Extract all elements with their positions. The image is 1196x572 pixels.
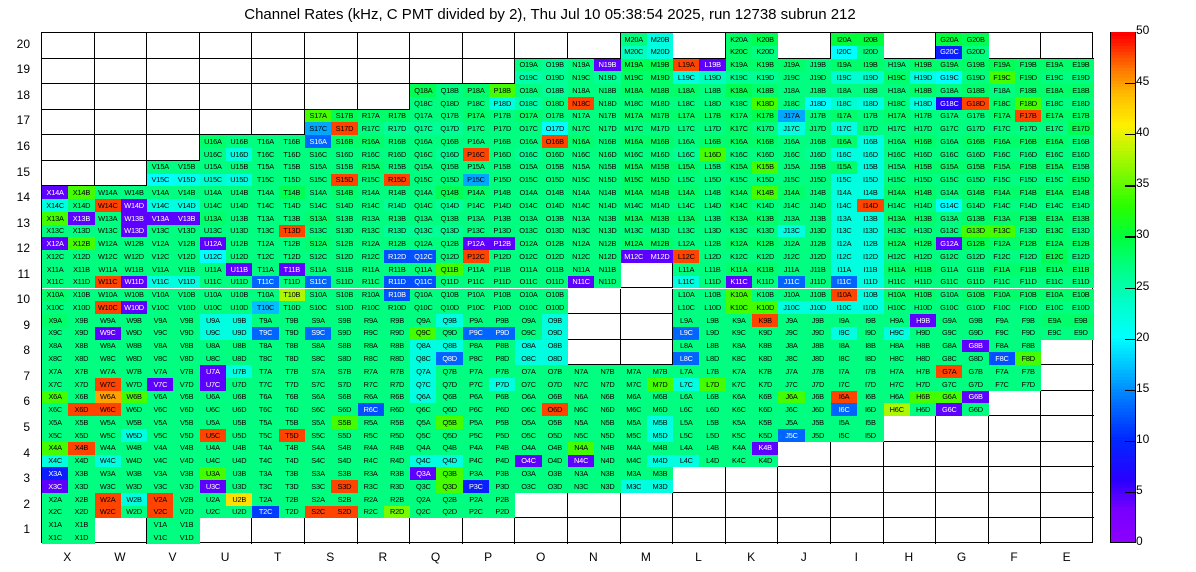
channel-F8B: F8B [1015,340,1041,353]
channel-L19D: L19D [699,71,725,84]
grid-cell-S14: S14AS14BS14CS14D [305,186,358,212]
channel-L17B: L17B [699,110,725,123]
grid-cell-H10: H10AH10BH10CH10D [884,289,937,315]
channel-T15A: T15A [252,161,278,174]
channel-K6B: K6B [752,391,778,404]
grid-cell-H4 [884,442,937,468]
channel-W10B: W10B [121,289,147,302]
grid-cell-G13: G13AG13BG13CG13D [936,212,989,238]
grid-cell-W17 [95,110,148,136]
grid-cell-J20 [778,33,831,59]
grid-cell-F8: F8AF8BF8CF8D [989,340,1042,366]
channel-T11C: T11C [252,276,278,289]
channel-N13B: N13B [594,212,620,225]
channel-L15B: L15B [699,161,725,174]
channel-H6A: H6A [884,391,910,404]
channel-R7B: R7B [384,365,410,378]
channel-W4D: W4D [121,455,147,468]
channel-R5A: R5A [358,416,384,429]
grid-cell-U20 [200,33,253,59]
channel-J10C: J10C [778,301,804,314]
channel-P3D: P3D [489,480,515,493]
channel-X11B: X11B [68,263,94,276]
channel-X8B: X8B [68,340,94,353]
grid-cell-S5: S5AS5BS5CS5D [305,416,358,442]
channel-M14A: M14A [621,186,647,199]
channel-M17B: M17B [647,110,673,123]
channel-R2D: R2D [384,506,410,519]
channel-M16D: M16D [647,148,673,161]
channel-O13B: O13B [542,212,568,225]
channel-Q14C: Q14C [410,199,436,212]
channel-Q16C: Q16C [410,148,436,161]
grid-cell-G11: G11AG11BG11CG11D [936,263,989,289]
channel-U16C: U16C [200,148,226,161]
channel-T7D: T7D [279,378,305,391]
channel-S12A: S12A [305,237,331,250]
channel-J14D: J14D [805,199,831,212]
channel-S16A: S16A [305,135,331,148]
colorbar-tick-line [1125,236,1136,237]
grid-cell-M15: M15AM15BM15CM15D [621,161,674,187]
channel-T15B: T15B [279,161,305,174]
channel-J6C: J6C [778,403,804,416]
channel-P18B: P18B [489,84,515,97]
channel-L16B: L16B [699,135,725,148]
y-tick-13: 13 [0,216,30,230]
channel-X4A: X4A [42,442,68,455]
grid-cell-T19 [252,59,305,85]
channel-E10D: E10D [1068,301,1094,314]
channel-M20A: M20A [621,33,647,46]
channel-R10B: R10B [384,289,410,302]
grid-cell-K19: K19AK19BK19CK19D [726,59,779,85]
grid-cell-H18: H18AH18BH18CH18D [884,84,937,110]
channel-S7A: S7A [305,365,331,378]
channel-I17D: I17D [857,122,883,135]
channel-K12D: K12D [752,250,778,263]
channel-K11D: K11D [752,276,778,289]
channel-E11D: E11D [1068,276,1094,289]
channel-N6B: N6B [594,391,620,404]
channel-E18D: E18D [1068,97,1094,110]
channel-O4B: O4B [542,442,568,455]
channel-U2D: U2D [226,506,252,519]
channel-X2C: X2C [42,506,68,519]
channel-H9A: H9A [884,314,910,327]
channel-M6A: M6A [621,391,647,404]
grid-cell-I3 [831,467,884,493]
channel-W10D: W10D [121,301,147,314]
channel-L13D: L13D [699,225,725,238]
grid-cell-Q14: Q14AQ14BQ14CQ14D [410,186,463,212]
channel-G10A: G10A [936,289,962,302]
grid-cell-O10: O10AO10BO10CO10D [515,289,568,315]
channel-K6C: K6C [726,403,752,416]
channel-J5A: J5A [778,416,804,429]
grid-cell-O6: O6AO6BO6CO6D [515,391,568,417]
grid-cell-K17: K17AK17BK17CK17D [726,110,779,136]
grid-cell-S17: S17AS17BS17CS17D [305,110,358,136]
grid-cell-T17 [252,110,305,136]
channel-X12D: X12D [68,250,94,263]
channel-G7C: G7C [936,378,962,391]
channel-F13B: F13B [1015,212,1041,225]
grid-cell-M14: M14AM14BM14CM14D [621,186,674,212]
grid-cell-R5: R5AR5BR5CR5D [358,416,411,442]
grid-cell-F7: F7AF7BF7CF7D [989,365,1042,391]
channel-K9C: K9C [726,327,752,340]
channel-H9D: H9D [910,327,936,340]
channel-U16D: U16D [226,148,252,161]
channel-R8A: R8A [358,340,384,353]
grid-cell-O2 [515,493,568,519]
channel-K10B: K10B [752,289,778,302]
channel-P3A: P3A [463,467,489,480]
grid-cell-O16: O16AO16BO16CO16D [515,135,568,161]
channel-G20C: G20C [936,46,962,59]
channel-X7B: X7B [68,365,94,378]
channel-F17A: F17A [989,110,1015,123]
channel-N4D: N4D [594,455,620,468]
channel-L16D: L16D [699,148,725,161]
heatmap-grid: M20AM20BM20CM20DK20AK20BK20CK20DI20AI20B… [42,33,1092,542]
channel-R13A: R13A [358,212,384,225]
channel-M4C: M4C [621,455,647,468]
grid-cell-H19: H19AH19BH19CH19D [884,59,937,85]
channel-P4D: P4D [489,455,515,468]
x-tick-M: M [620,550,673,564]
channel-S8B: S8B [331,340,357,353]
channel-Q10A: Q10A [410,289,436,302]
channel-O16A: O16A [515,135,541,148]
channel-I8B: I8B [857,340,883,353]
grid-cell-O7: O7AO7BO7CO7D [515,365,568,391]
channel-P14C: P14C [463,199,489,212]
grid-cell-X11: X11AX11BX11CX11D [42,263,95,289]
channel-G7D: G7D [962,378,988,391]
grid-cell-P7: P7AP7BP7CP7D [463,365,516,391]
channel-R11D: R11D [384,276,410,289]
grid-cell-J13: J13AJ13BJ13CJ13D [778,212,831,238]
channel-J5C: J5C [778,429,804,442]
channel-X3C: X3C [42,480,68,493]
channel-P3B: P3B [489,467,515,480]
channel-V1D: V1D [173,531,199,544]
x-tick-R: R [357,550,410,564]
grid-cell-S4: S4AS4BS4CS4D [305,442,358,468]
grid-cell-G3 [936,467,989,493]
channel-K15D: K15D [752,174,778,187]
channel-H6B: H6B [910,391,936,404]
channel-P15B: P15B [489,161,515,174]
y-tick-15: 15 [0,165,30,179]
grid-cell-L15: L15AL15BL15CL15D [673,161,726,187]
channel-Q11B: Q11B [436,263,462,276]
channel-P2D: P2D [489,506,515,519]
channel-S7C: S7C [305,378,331,391]
channel-O9D: O9D [542,327,568,340]
channel-P5B: P5B [489,416,515,429]
channel-O12D: O12D [542,250,568,263]
channel-K5C: K5C [726,429,752,442]
grid-cell-S18 [305,84,358,110]
channel-I5C: I5C [831,429,857,442]
grid-cell-Q8: Q8AQ8BQ8CQ8D [410,340,463,366]
y-tick-7: 7 [0,369,30,383]
channel-E9B: E9B [1068,314,1094,327]
channel-F11C: F11C [989,276,1015,289]
grid-cell-N6: N6AN6BN6CN6D [568,391,621,417]
channel-R8C: R8C [358,352,384,365]
channel-S17C: S17C [305,122,331,135]
channel-M16A: M16A [621,135,647,148]
channel-W6D: W6D [121,403,147,416]
channel-P4C: P4C [463,455,489,468]
channel-T4B: T4B [279,442,305,455]
channel-Q5C: Q5C [410,429,436,442]
grid-cell-K20: K20AK20BK20CK20D [726,33,779,59]
colorbar-tick-line [1125,83,1136,84]
channel-Q17B: Q17B [436,110,462,123]
channel-P13B: P13B [489,212,515,225]
channel-K16D: K16D [752,148,778,161]
channel-Q6D: Q6D [436,403,462,416]
grid-cell-O15: O15AO15BO15CO15D [515,161,568,187]
channel-X6C: X6C [42,403,68,416]
channel-L4A: L4A [673,442,699,455]
channel-W8C: W8C [95,352,121,365]
channel-T12C: T12C [252,250,278,263]
channel-S4C: S4C [305,455,331,468]
channel-K19A: K19A [726,59,752,72]
channel-W10C: W10C [95,301,121,314]
grid-cell-O4: O4AO4BO4CO4D [515,442,568,468]
channel-T8D: T8D [279,352,305,365]
channel-N14C: N14C [568,199,594,212]
grid-cell-Q6: Q6AQ6BQ6CQ6D [410,391,463,417]
grid-cell-G2 [936,493,989,519]
channel-U13A: U13A [200,212,226,225]
channel-P6A: P6A [463,391,489,404]
channel-E17B: E17B [1068,110,1094,123]
channel-P14D: P14D [489,199,515,212]
channel-T10D: T10D [279,301,305,314]
channel-O19B: O19B [542,59,568,72]
channel-E13B: E13B [1068,212,1094,225]
channel-U4A: U4A [200,442,226,455]
channel-L7B: L7B [699,365,725,378]
channel-E12A: E12A [1041,237,1067,250]
channel-K10A: K10A [726,289,752,302]
grid-cell-I11: I11AI11BI11CI11D [831,263,884,289]
grid-cell-P12: P12AP12BP12CP12D [463,237,516,263]
channel-L12A: L12A [673,237,699,250]
channel-J17D: J17D [805,122,831,135]
channel-Q7C: Q7C [410,378,436,391]
channel-R14D: R14D [384,199,410,212]
channel-W12D: W12D [121,250,147,263]
channel-M12B: M12B [647,237,673,250]
channel-O6C: O6C [515,403,541,416]
channel-M17C: M17C [621,122,647,135]
channel-T5B: T5B [279,416,305,429]
channel-W9B: W9B [121,314,147,327]
grid-cell-F14: F14AF14BF14CF14D [989,186,1042,212]
grid-cell-E6 [1041,391,1094,417]
grid-cell-G7: G7AG7BG7CG7D [936,365,989,391]
grid-cell-W15 [95,161,148,187]
channel-K20B: K20B [752,33,778,46]
grid-cell-R11: R11AR11BR11CR11D [358,263,411,289]
channel-P8A: P8A [463,340,489,353]
grid-cell-K9: K9AK9BK9CK9D [726,314,779,340]
channel-J10B: J10B [805,289,831,302]
grid-cell-O1 [515,518,568,544]
grid-cell-E15: E15AE15BE15CE15D [1041,161,1094,187]
channel-V9B: V9B [173,314,199,327]
channel-F16D: F16D [1015,148,1041,161]
channel-X13B: X13B [68,212,94,225]
channel-M20C: M20C [621,46,647,59]
channel-H9C: H9C [884,327,910,340]
channel-L16C: L16C [673,148,699,161]
channel-I16A: I16A [831,135,857,148]
grid-cell-R4: R4AR4BR4CR4D [358,442,411,468]
grid-cell-E13: E13AE13BE13CE13D [1041,212,1094,238]
x-tick-I: I [830,550,883,564]
channel-V3B: V3B [173,467,199,480]
grid-cell-V13: V13AV13BV13CV13D [147,212,200,238]
channel-R2B: R2B [384,493,410,506]
channel-L17C: L17C [673,122,699,135]
channel-F10A: F10A [989,289,1015,302]
channel-O12C: O12C [515,250,541,263]
grid-cell-U15: U15AU15BU15CU15D [200,161,253,187]
grid-cell-J7: J7AJ7BJ7CJ7D [778,365,831,391]
channel-Q9A: Q9A [410,314,436,327]
grid-cell-P9: P9AP9BP9CP9D [463,314,516,340]
grid-cell-S8: S8AS8BS8CS8D [305,340,358,366]
channel-P3C: P3C [463,480,489,493]
grid-cell-R16: R16AR16BR16CR16D [358,135,411,161]
grid-cell-F6 [989,391,1042,417]
channel-I12A: I12A [831,237,857,250]
channel-G17A: G17A [936,110,962,123]
channel-F14A: F14A [989,186,1015,199]
channel-R16C: R16C [358,148,384,161]
grid-cell-V7: V7AV7BV7CV7D [147,365,200,391]
channel-N17A: N17A [568,110,594,123]
channel-T10B: T10B [279,289,305,302]
grid-cell-J3 [778,467,831,493]
grid-cell-H14: H14AH14BH14CH14D [884,186,937,212]
channel-K8A: K8A [726,340,752,353]
grid-cell-V8: V8AV8BV8CV8D [147,340,200,366]
channel-U13C: U13C [200,225,226,238]
channel-P7B: P7B [489,365,515,378]
channel-G6C: G6C [936,403,962,416]
channel-H14A: H14A [884,186,910,199]
grid-cell-M11 [621,263,674,289]
channel-H12D: H12D [910,250,936,263]
grid-cell-R2: R2AR2BR2CR2D [358,493,411,519]
channel-P10C: P10C [463,301,489,314]
channel-N16C: N16C [568,148,594,161]
channel-R13C: R13C [358,225,384,238]
channel-Q12C: Q12C [410,250,436,263]
channel-Q13A: Q13A [410,212,436,225]
channel-S9D: S9D [331,327,357,340]
grid-cell-T13: T13AT13BT13CT13D [252,212,305,238]
channel-U11C: U11C [200,276,226,289]
channel-N19D: N19D [594,71,620,84]
channel-H11B: H11B [910,263,936,276]
channel-T7B: T7B [279,365,305,378]
channel-L15A: L15A [673,161,699,174]
y-tick-2: 2 [0,497,30,511]
channel-N19B: N19B [594,59,620,72]
grid-cell-N11: N11AN11BN11CN11D [568,263,621,289]
channel-E13D: E13D [1068,225,1094,238]
grid-cell-F16: F16AF16BF16CF16D [989,135,1042,161]
channel-K9B: K9B [752,314,778,327]
channel-O10C: O10C [515,301,541,314]
channel-J11C: J11C [778,276,804,289]
grid-cell-F3 [989,467,1042,493]
grid-cell-N9 [568,314,621,340]
grid-cell-J6: J6AJ6BJ6CJ6D [778,391,831,417]
channel-T3C: T3C [252,480,278,493]
channel-M5A: M5A [621,416,647,429]
grid-cell-O14: O14AO14BO14CO14D [515,186,568,212]
grid-cell-N12: N12AN12BN12CN12D [568,237,621,263]
grid-cell-G1 [936,518,989,544]
grid-cell-R10: R10AR10BR10CR10D [358,289,411,315]
channel-Q12D: Q12D [436,250,462,263]
channel-K20D: K20D [752,46,778,59]
grid-cell-P20 [463,33,516,59]
colorbar-tick-45: 45 [1136,74,1149,88]
channel-N15A: N15A [568,161,594,174]
channel-G16C: G16C [936,148,962,161]
channel-Q4A: Q4A [410,442,436,455]
channel-G7B: G7B [962,365,988,378]
grid-cell-I2 [831,493,884,519]
channel-U4B: U4B [226,442,252,455]
channel-V2C: V2C [147,506,173,519]
grid-cell-P17: P17AP17BP17CP17D [463,110,516,136]
channel-M20D: M20D [647,46,673,59]
channel-F18D: F18D [1015,97,1041,110]
channel-O7A: O7A [515,365,541,378]
channel-U2C: U2C [200,506,226,519]
channel-P15C: P15C [463,174,489,187]
channel-J16B: J16B [805,135,831,148]
grid-cell-S20 [305,33,358,59]
channel-K12A: K12A [726,237,752,250]
channel-P9C: P9C [463,327,489,340]
channel-P17D: P17D [489,122,515,135]
channel-V15A: V15A [147,161,173,174]
channel-W11C: W11C [95,276,121,289]
channel-X5B: X5B [68,416,94,429]
channel-N14D: N14D [594,199,620,212]
grid-cell-E10: E10AE10BE10CE10D [1041,289,1094,315]
channel-V13A: V13A [147,212,173,225]
channel-R7D: R7D [384,378,410,391]
channel-K4C: K4C [726,455,752,468]
